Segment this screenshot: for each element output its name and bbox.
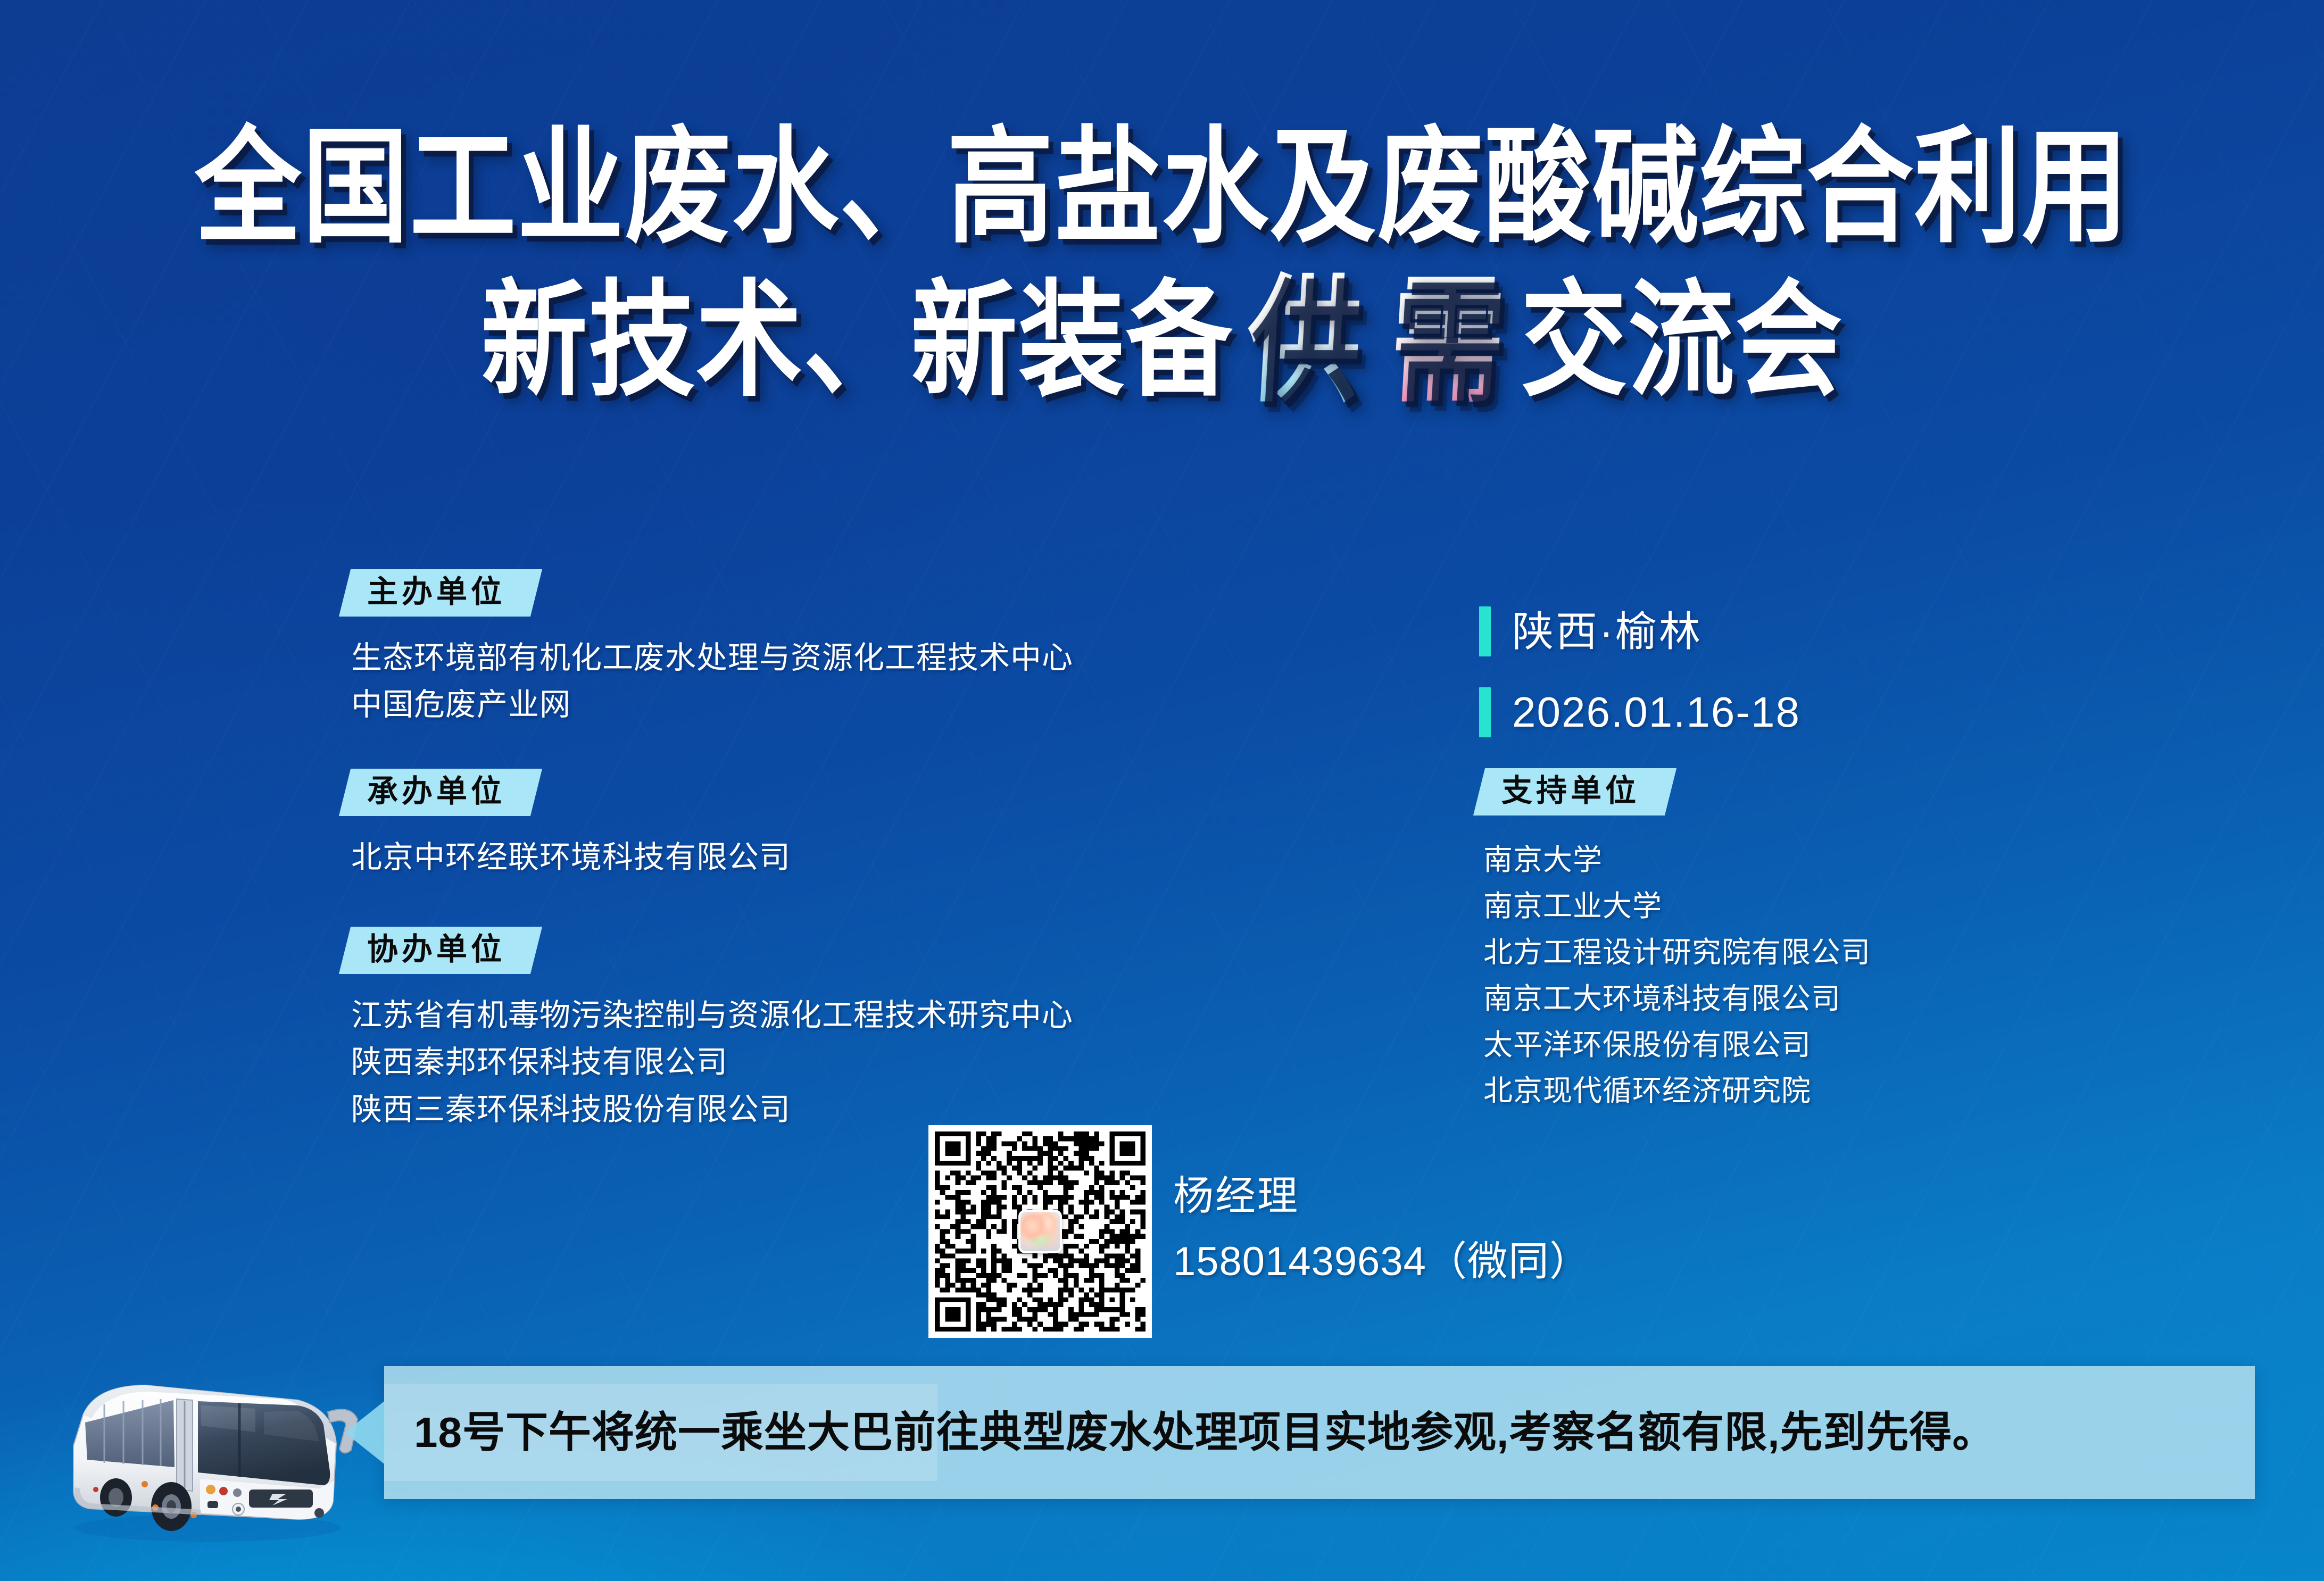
list-item: 生态环境部有机化工废水处理与资源化工程技术中心 xyxy=(351,635,1260,681)
coorganizer-group: 协办单位 江苏省有机毒物污染控制与资源化工程技术研究中心 陕西秦邦环保科技有限公… xyxy=(345,927,1260,1133)
support-group: 支持单位 南京大学 南京工业大学 北方工程设计研究院有限公司 南京工大环境科技有… xyxy=(1479,768,2224,1114)
title-line-2: 新技术、新装备供需交流会 xyxy=(0,270,2324,413)
coorganizer-badge: 协办单位 xyxy=(345,927,536,974)
arrow-icon xyxy=(345,1400,386,1466)
contact-block: 杨经理 15801439634（微同） xyxy=(1173,1170,1590,1288)
location-row: 陕西·榆林 xyxy=(1479,606,2224,656)
list-item: 中国危废产业网 xyxy=(351,681,1260,728)
list-item: 江苏省有机毒物污染控制与资源化工程技术研究中心 xyxy=(351,992,1260,1039)
wechat-qr-code[interactable] xyxy=(928,1125,1152,1338)
undertaker-group: 承办单位 北京中环经联环境科技有限公司 xyxy=(345,769,1260,881)
qr-avatar-icon xyxy=(1018,1210,1062,1253)
title-line-1: 全国工业废水、高盐水及废酸碱综合利用 xyxy=(0,121,2324,254)
support-badge: 支持单位 xyxy=(1479,768,1671,816)
list-item: 南京大学 xyxy=(1483,837,2224,883)
title-accent-xu: 需 xyxy=(1373,269,1525,414)
list-item: 北方工程设计研究院有限公司 xyxy=(1483,929,2224,976)
notice-text: 18号下午将统一乘坐大巴前往典型废水处理项目实地参观,考察名额有限,先到先得。 xyxy=(414,1407,1995,1458)
title-line-2-pre: 新技术、新装备 xyxy=(481,271,1233,411)
accent-bar-icon xyxy=(1479,687,1491,737)
undertaker-badge: 承办单位 xyxy=(345,769,536,816)
spacer xyxy=(345,728,1260,769)
support-list: 南京大学 南京工业大学 北方工程设计研究院有限公司 南京工大环境科技有限公司 太… xyxy=(1483,837,2224,1114)
list-item: 北京现代循环经济研究院 xyxy=(1483,1068,2224,1114)
date-row: 2026.01.16-18 xyxy=(1479,687,2224,737)
organizer-group: 主办单位 生态环境部有机化工废水处理与资源化工程技术中心 中国危废产业网 xyxy=(345,569,1260,728)
coorganizer-list: 江苏省有机毒物污染控制与资源化工程技术研究中心 陕西秦邦环保科技有限公司 陕西三… xyxy=(351,992,1260,1133)
organizations-column: 主办单位 生态环境部有机化工废水处理与资源化工程技术中心 中国危废产业网 承办单… xyxy=(345,569,1260,1133)
contact-phone[interactable]: 15801439634（微同） xyxy=(1173,1236,1590,1288)
list-item: 南京工大环境科技有限公司 xyxy=(1483,976,2224,1022)
organizer-list: 生态环境部有机化工废水处理与资源化工程技术中心 中国危废产业网 xyxy=(351,635,1260,728)
list-item: 南京工业大学 xyxy=(1483,883,2224,929)
undertaker-list: 北京中环经联环境科技有限公司 xyxy=(351,834,1260,881)
contact-name: 杨经理 xyxy=(1173,1170,1590,1223)
poster-title: 全国工业废水、高盐水及废酸碱综合利用 新技术、新装备供需交流会 xyxy=(0,121,2324,391)
event-date: 2026.01.16-18 xyxy=(1512,691,1800,734)
event-details-column: 陕西·榆林 2026.01.16-18 支持单位 南京大学 南京工业大学 北方工… xyxy=(1479,606,2224,1114)
title-accent-gong: 供 xyxy=(1229,269,1381,414)
accent-bar-icon xyxy=(1479,606,1491,656)
spacer xyxy=(345,881,1260,927)
organizer-badge: 主办单位 xyxy=(345,569,536,617)
title-line-2-post: 交流会 xyxy=(1521,271,1843,411)
list-item: 太平洋环保股份有限公司 xyxy=(1483,1022,2224,1068)
event-location: 陕西·榆林 xyxy=(1512,611,1703,652)
notice-banner: 18号下午将统一乘坐大巴前往典型废水处理项目实地参观,考察名额有限,先到先得。 xyxy=(384,1366,2255,1499)
event-poster: 全国工业废水、高盐水及废酸碱综合利用 新技术、新装备供需交流会 主办单位 生态环… xyxy=(0,0,2324,1581)
list-item: 北京中环经联环境科技有限公司 xyxy=(351,834,1260,881)
list-item: 陕西秦邦环保科技有限公司 xyxy=(351,1039,1260,1086)
